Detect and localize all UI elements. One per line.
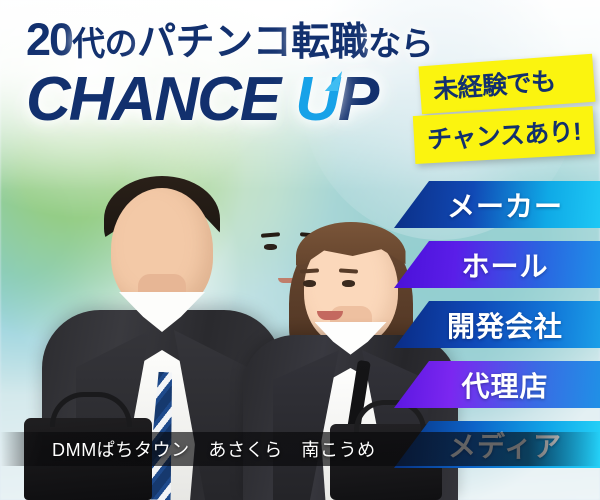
menu-item-hall-label: ホール: [394, 245, 600, 285]
category-menu: メーカー ホール 開発会社 代理店 メディア: [394, 181, 600, 468]
menu-item-hall[interactable]: ホール: [394, 241, 600, 288]
chance-up-logo: CHANCEUP: [26, 69, 446, 131]
badge-line-2: チャンスあり!: [413, 106, 595, 164]
menu-item-maker[interactable]: メーカー: [394, 181, 600, 228]
headline-number: 20: [26, 14, 72, 65]
headline-block: 20代のパチンコ転職なら CHANCEUP: [26, 16, 446, 131]
promo-banner: 20代のパチンコ転職なら CHANCEUP 未経験でも チャンスあり! メーカー…: [0, 0, 600, 500]
logo-up-group: UP: [295, 65, 377, 134]
headline-kanji: 転職: [291, 21, 368, 64]
logo-u-letter: U: [295, 69, 338, 131]
caption-text: DMMぱちタウン あさくら 南こうめ: [52, 436, 376, 462]
caption-bar: DMMぱちタウン あさくら 南こうめ: [0, 432, 600, 466]
woman-eye-left: [303, 280, 316, 287]
menu-item-developer[interactable]: 開発会社: [394, 301, 600, 348]
menu-item-developer-label: 開発会社: [394, 305, 600, 345]
menu-item-agency-label: 代理店: [394, 365, 600, 405]
woman-eye-right: [342, 280, 355, 287]
logo-chance-text: CHANCE: [26, 65, 279, 134]
badge-line-1: 未経験でも: [418, 54, 595, 115]
menu-item-maker-label: メーカー: [394, 185, 600, 225]
logo-p-letter: P: [338, 65, 377, 134]
headline-dai-no: 代の: [72, 25, 137, 62]
menu-item-agency[interactable]: 代理店: [394, 361, 600, 408]
headline-katakana: パチンコ: [137, 21, 291, 64]
headline-tail: なら: [368, 25, 433, 62]
headline-line-1: 20代のパチンコ転職なら: [26, 16, 446, 64]
inexperience-badge: 未経験でも チャンスあり!: [420, 60, 594, 159]
